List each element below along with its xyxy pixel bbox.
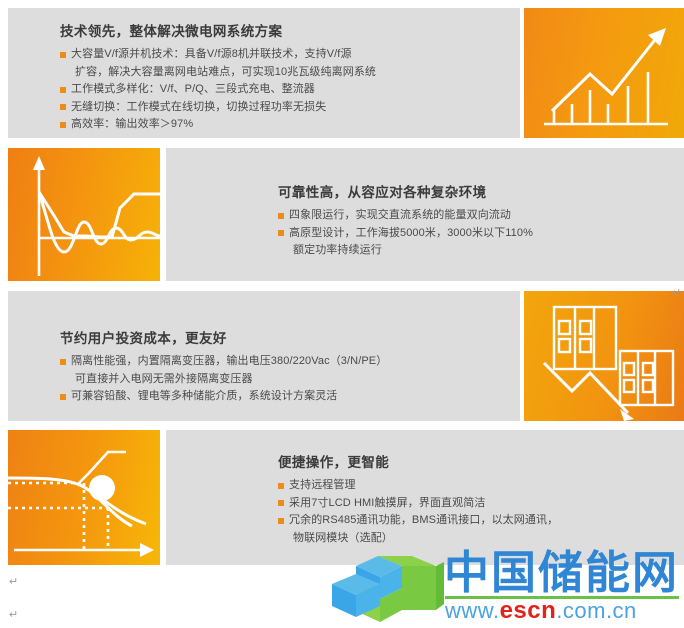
watermark-url-suffix: .com.cn: [556, 598, 637, 623]
bullet-text: 可兼容铅酸、锂电等多种储能介质，系统设计方案灵活: [71, 390, 337, 402]
list-item: 无缝切换：工作模式在线切换，切换过程功率无损失: [60, 99, 512, 117]
bullet-square-icon: [278, 230, 284, 236]
droop-curve-operating-point-icon: [8, 430, 160, 565]
section-3-heading: 节约用户投资成本，更友好: [60, 327, 512, 347]
paragraph-mark: ↵: [672, 286, 681, 299]
list-item: 冗余的RS485通讯功能，BMS通讯接口，以太网通讯，: [278, 512, 678, 530]
list-item: 扩容，解决大容量离网电站难点，可实现10兆瓦级纯离网系统: [60, 64, 512, 82]
section-1-text: 技术领先，整体解决微电网系统方案 大容量V/f源并机技术：具备V/f源8机并联技…: [60, 20, 512, 134]
bullet-square-icon: [60, 394, 66, 400]
list-item: 额定功率持续运行: [278, 242, 678, 260]
bullet-text: 扩容，解决大容量离网电站难点，可实现10兆瓦级纯离网系统: [75, 66, 376, 78]
bullet-text: 无缝切换：工作模式在线切换，切换过程功率无损失: [71, 101, 326, 113]
bullet-square-icon: [278, 483, 284, 489]
section-high-reliability: 可靠性高，从容应对各种复杂环境 四象限运行，实现交直流系统的能量双向流动 高原型…: [0, 148, 684, 281]
watermark-url-highlight: escn: [500, 597, 557, 624]
growth-bar-chart-arrow-icon: [524, 8, 684, 138]
bullet-text: 大容量V/f源并机技术：具备V/f源8机并联技术，支持V/f源: [71, 48, 352, 60]
bullet-square-icon: [278, 500, 284, 506]
bullet-text: 冗余的RS485通讯功能，BMS通讯接口，以太网通讯，: [289, 514, 558, 526]
paragraph-mark: ↵: [9, 608, 18, 621]
cabinet-cost-down-arrow-icon: [524, 291, 684, 421]
bullet-text: 高原型设计，工作海拔5000米，3000米以下110%: [289, 227, 533, 239]
watermark-url-prefix: www.: [445, 598, 500, 623]
section-2-bullet-list: 四象限运行，实现交直流系统的能量双向流动 高原型设计，工作海拔5000米，300…: [278, 207, 678, 260]
escn-watermark: 中国储能网 www.escn.com.cn: [332, 552, 684, 628]
slide-page: 技术领先，整体解决微电网系统方案 大容量V/f源并机技术：具备V/f源8机并联技…: [0, 0, 684, 628]
watermark-url: www.escn.com.cn: [445, 599, 637, 623]
bullet-square-icon: [278, 518, 284, 524]
section-2-image-panel: [8, 148, 160, 281]
section-4-heading: 便捷操作，更智能: [278, 451, 678, 471]
section-1-image-panel: [524, 8, 684, 138]
bullet-text: 采用7寸LCD HMI触摸屏，界面直观简洁: [289, 497, 485, 509]
list-item: 可直接并入电网无需外接隔离变压器: [60, 371, 512, 389]
bullet-text: 可直接并入电网无需外接隔离变压器: [75, 373, 253, 385]
section-4-text: 便捷操作，更智能 支持远程管理 采用7寸LCD HMI触摸屏，界面直观简洁 冗余…: [278, 451, 678, 547]
bullet-square-icon: [60, 122, 66, 128]
bullet-text: 工作模式多样化：V/f、P/Q、三段式充电、整流器: [71, 83, 315, 95]
section-3-text: 节约用户投资成本，更友好 隔离性能强，内置隔离变压器，输出电压380/220Va…: [60, 327, 512, 406]
bullet-text: 隔离性能强，内置隔离变压器，输出电压380/220Vac（3/N/PE）: [71, 355, 387, 367]
section-1-bullet-list: 大容量V/f源并机技术：具备V/f源8机并联技术，支持V/f源 扩容，解决大容量…: [60, 46, 512, 134]
section-2-text: 可靠性高，从容应对各种复杂环境 四象限运行，实现交直流系统的能量双向流动 高原型…: [278, 181, 678, 260]
list-item: 高原型设计，工作海拔5000米，3000米以下110%: [278, 225, 678, 243]
list-item: 工作模式多样化：V/f、P/Q、三段式充电、整流器: [60, 81, 512, 99]
section-4-image-panel: [8, 430, 160, 565]
list-item: 采用7寸LCD HMI触摸屏，界面直观简洁: [278, 495, 678, 513]
list-item: 大容量V/f源并机技术：具备V/f源8机并联技术，支持V/f源: [60, 46, 512, 64]
list-item: 隔离性能强，内置隔离变压器，输出电压380/220Vac（3/N/PE）: [60, 353, 512, 371]
bullet-text: 高效率：输出效率＞97%: [71, 118, 193, 130]
section-4-bullet-list: 支持远程管理 采用7寸LCD HMI触摸屏，界面直观简洁 冗余的RS485通讯功…: [278, 477, 678, 547]
section-3-bullet-list: 隔离性能强，内置隔离变压器，输出电压380/220Vac（3/N/PE） 可直接…: [60, 353, 512, 406]
paragraph-mark: ↵: [9, 575, 18, 588]
bullet-text: 四象限运行，实现交直流系统的能量双向流动: [289, 209, 511, 221]
list-item: 物联网模块（选配）: [278, 530, 678, 548]
bullet-text: 额定功率持续运行: [293, 244, 382, 256]
escn-chain-link-logo: [332, 554, 444, 626]
section-easy-operation: 便捷操作，更智能 支持远程管理 采用7寸LCD HMI触摸屏，界面直观简洁 冗余…: [0, 430, 684, 565]
damped-oscillation-waveform-icon: [8, 148, 160, 281]
list-item: 支持远程管理: [278, 477, 678, 495]
list-item: 四象限运行，实现交直流系统的能量双向流动: [278, 207, 678, 225]
bullet-square-icon: [278, 213, 284, 219]
section-3-image-panel: [524, 291, 684, 421]
section-1-heading: 技术领先，整体解决微电网系统方案: [60, 20, 512, 40]
section-save-investment-cost: 节约用户投资成本，更友好 隔离性能强，内置隔离变压器，输出电压380/220Va…: [0, 291, 684, 421]
bullet-square-icon: [60, 104, 66, 110]
bullet-square-icon: [60, 52, 66, 58]
watermark-brand-name: 中国储能网: [444, 550, 679, 596]
bullet-square-icon: [60, 359, 66, 365]
list-item: 高效率：输出效率＞97%: [60, 116, 512, 134]
section-2-heading: 可靠性高，从容应对各种复杂环境: [278, 181, 678, 201]
bullet-text: 支持远程管理: [289, 479, 356, 491]
section-tech-leading: 技术领先，整体解决微电网系统方案 大容量V/f源并机技术：具备V/f源8机并联技…: [0, 8, 684, 138]
list-item: 可兼容铅酸、锂电等多种储能介质，系统设计方案灵活: [60, 388, 512, 406]
bullet-text: 物联网模块（选配）: [293, 532, 393, 544]
bullet-square-icon: [60, 87, 66, 93]
